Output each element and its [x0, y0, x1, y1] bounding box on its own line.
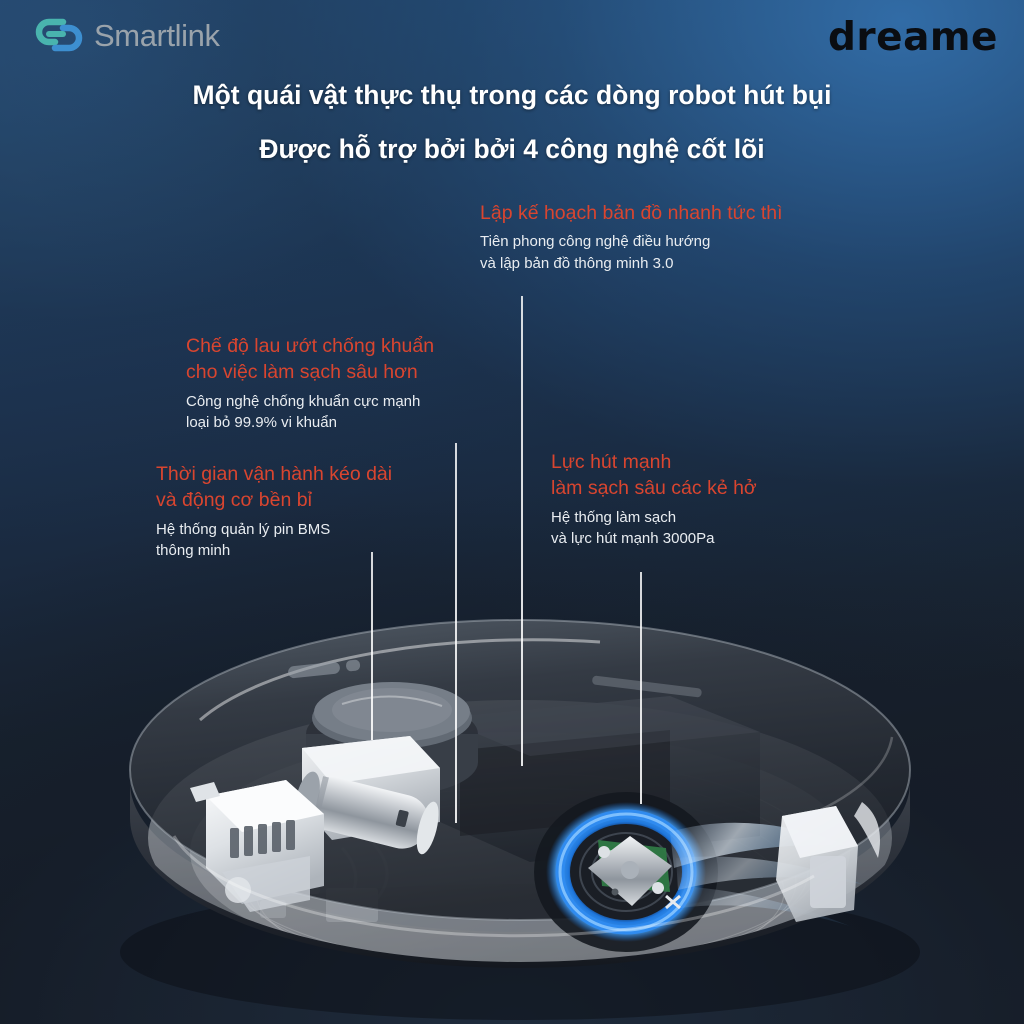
chain-link-icon [33, 14, 85, 56]
callout-battery-title: Thời gian vận hành kéo dài và động cơ bề… [156, 461, 392, 514]
leader-line-suction [640, 572, 642, 804]
callout-suction-body: Hệ thống làm sạch và lực hút mạnh 3000Pa [551, 507, 757, 550]
dreame-wordmark: dreame [828, 18, 998, 57]
callout-mop-body: Công nghệ chống khuẩn cực mạnh loại bỏ 9… [186, 391, 434, 434]
leader-line-mapping [521, 296, 523, 766]
callout-mapping: Lập kế hoạch bản đồ nhanh tức thì Tiên p… [480, 200, 783, 274]
robot-vacuum-cutaway-image [110, 600, 930, 1024]
callout-mop-title: Chế độ lau ướt chống khuẩn cho việc làm … [186, 333, 434, 386]
callout-battery-motor: Thời gian vận hành kéo dài và động cơ bề… [156, 461, 392, 561]
leader-line-mop [455, 443, 457, 823]
callout-mapping-body: Tiên phong công nghệ điều hướng và lập b… [480, 231, 783, 274]
callout-mapping-title: Lập kế hoạch bản đồ nhanh tức thì [480, 200, 783, 226]
smartlink-wordmark: Smartlink [94, 20, 220, 51]
headline-secondary: Được hỗ trợ bởi bởi 4 công nghệ cốt lõi [0, 134, 1024, 164]
callout-battery-body: Hệ thống quản lý pin BMS thông minh [156, 519, 392, 562]
callout-suction-title: Lực hút mạnh làm sạch sâu các kẻ hở [551, 449, 757, 502]
infographic-canvas: Smartlink dreame Một quái vật thực thụ t… [0, 0, 1024, 1024]
callout-antibacterial-mop: Chế độ lau ướt chống khuẩn cho việc làm … [186, 333, 434, 433]
callout-suction-power: Lực hút mạnh làm sạch sâu các kẻ hở Hệ t… [551, 449, 757, 549]
headline-primary: Một quái vật thực thụ trong các dòng rob… [0, 80, 1024, 110]
leader-line-battery [371, 552, 373, 740]
smartlink-logo: Smartlink [33, 14, 220, 56]
